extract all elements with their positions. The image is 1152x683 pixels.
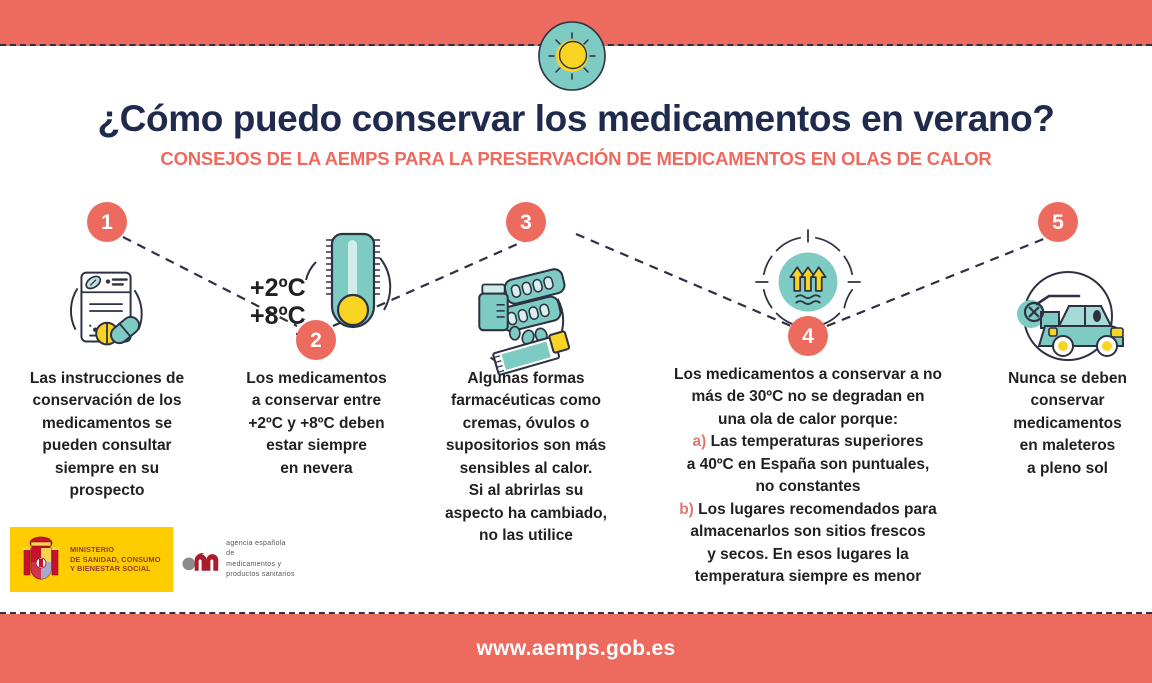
text-line: y secos. En esos lugares la xyxy=(633,544,983,566)
logo-bar: MINISTERIO DE SANIDAD, CONSUMO Y BIENEST… xyxy=(10,527,295,592)
ministry-logo-text: MINISTERIO DE SANIDAD, CONSUMO Y BIENEST… xyxy=(70,545,161,575)
text-line: medicamentos y xyxy=(226,560,295,571)
sub-item-b-marker: b) xyxy=(679,501,694,518)
text-line: a 40ºC en España son puntuales, xyxy=(633,454,983,476)
text-line: Las instrucciones de xyxy=(0,368,214,390)
text-line: DE SANIDAD, CONSUMO xyxy=(70,555,161,565)
text-line: una ola de calor porque: xyxy=(633,409,983,431)
text-line: no constantes xyxy=(633,476,983,498)
sun-icon xyxy=(537,21,607,91)
text-line: supositorios son más xyxy=(419,435,633,457)
thermometer-label-low: +2ºC xyxy=(250,274,306,302)
text-line: en nevera xyxy=(214,458,419,480)
text-line: Los medicamentos a conservar a no xyxy=(633,364,983,386)
text-line: medicamentos xyxy=(983,413,1152,435)
text-line: cremas, óvulos o xyxy=(419,413,633,435)
text-line: pueden consultar xyxy=(0,435,214,457)
text-line: productos sanitarios xyxy=(226,570,295,581)
step-number-badge-4: 4 xyxy=(788,316,828,356)
step-number-badge-1: 1 xyxy=(87,202,127,242)
page-subtitle: CONSEJOS DE LA AEMPS PARA LA PRESERVACIÓ… xyxy=(0,148,1152,170)
text-line: a conservar entre xyxy=(214,390,419,412)
step-4-text: Los medicamentos a conservar a no más de… xyxy=(633,364,983,589)
text-line: agencia española de xyxy=(226,539,295,560)
step-number-badge-5: 5 xyxy=(1038,202,1078,242)
text-line: siempre en su xyxy=(0,458,214,480)
text-line: conservar xyxy=(983,390,1152,412)
text-line: Si al abrirlas su xyxy=(419,480,633,502)
text-line: farmacéuticas como xyxy=(419,390,633,412)
aemps-logo-icon xyxy=(182,545,221,575)
step-2-text: Los medicamentos a conservar entre +2ºC … xyxy=(214,368,419,480)
step-1-text: Las instrucciones de conservación de los… xyxy=(0,368,214,503)
step-5-text: Nunca se deben conservar medicamentos en… xyxy=(983,368,1152,480)
text-line: Nunca se deben xyxy=(983,368,1152,390)
text-line: temperatura siempre es menor xyxy=(633,566,983,588)
aemps-logo-text: agencia española de medicamentos y produ… xyxy=(226,539,295,581)
text-line: medicamentos se xyxy=(0,413,214,435)
text-line: Y BIENESTAR SOCIAL xyxy=(70,564,161,574)
prospectus-document-icon xyxy=(0,230,214,390)
sub-item-b: b) Los lugares recomendados para xyxy=(633,499,983,521)
text-line: en maleteros xyxy=(983,435,1152,457)
sub-item-a-marker: a) xyxy=(693,433,707,450)
text-line: a pleno sol xyxy=(983,458,1152,480)
step-3-text: Algunas formas farmacéuticas como cremas… xyxy=(419,368,633,548)
ministry-logo: MINISTERIO DE SANIDAD, CONSUMO Y BIENEST… xyxy=(10,527,173,592)
infographic-poster: ¿Cómo puedo conservar los medicamentos e… xyxy=(0,0,1152,683)
footer-band: www.aemps.gob.es xyxy=(0,614,1152,683)
text-line: Los lugares recomendados para xyxy=(698,501,937,518)
text-line: sensibles al calor. xyxy=(419,458,633,480)
text-line: no las utilice xyxy=(419,525,633,547)
text-line: +2ºC y +8ºC deben xyxy=(214,413,419,435)
text-line: Los medicamentos xyxy=(214,368,419,390)
text-line: Algunas formas xyxy=(419,368,633,390)
text-line: prospecto xyxy=(0,480,214,502)
spain-coat-of-arms-icon xyxy=(18,533,64,587)
text-line: conservación de los xyxy=(0,390,214,412)
website-url[interactable]: www.aemps.gob.es xyxy=(477,637,676,661)
text-line: más de 30ºC no se degradan en xyxy=(633,386,983,408)
step-number-badge-2: 2 xyxy=(296,320,336,360)
page-title: ¿Cómo puedo conservar los medicamentos e… xyxy=(0,98,1152,140)
text-line: aspecto ha cambiado, xyxy=(419,503,633,525)
text-line: estar siempre xyxy=(214,435,419,457)
text-line: almacenarlos son sitios frescos xyxy=(633,521,983,543)
aemps-logo: agencia española de medicamentos y produ… xyxy=(173,527,295,592)
sub-item-a: a) Las temperaturas superiores xyxy=(633,431,983,453)
text-line: MINISTERIO xyxy=(70,545,161,555)
thermometer-label-high: +8ºC xyxy=(250,302,306,330)
step-number-badge-3: 3 xyxy=(506,202,546,242)
text-line: Las temperaturas superiores xyxy=(711,433,924,450)
